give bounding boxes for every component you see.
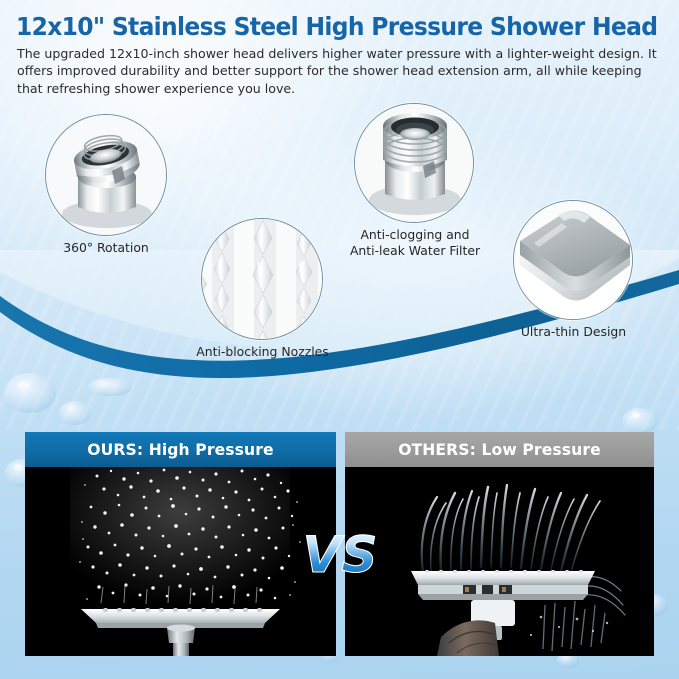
- silicone-nozzle-jets-icon: [201, 218, 323, 340]
- threaded-water-filter-icon: [354, 103, 474, 223]
- feature-nozzles: Anti-blocking Nozzles: [201, 218, 323, 340]
- ultra-thin-edge-icon: [513, 200, 633, 320]
- page-description: The upgraded 12x10-inch shower head deli…: [17, 45, 657, 97]
- feature-ultrathin: Ultra-thin Design: [513, 200, 633, 320]
- panel-ours-header: OURS: High Pressure: [25, 432, 336, 467]
- feature-caption: Anti-blocking Nozzles: [185, 344, 340, 360]
- panel-ours-image: [25, 467, 336, 656]
- feature-rotation: 360° Rotation: [45, 114, 167, 236]
- panel-others-image: [345, 467, 654, 656]
- feature-caption: Anti-clogging and Anti-leak Water Filter: [324, 227, 506, 258]
- feature-caption: Ultra-thin Design: [501, 324, 646, 340]
- feature-caption: 360° Rotation: [31, 240, 181, 256]
- infographic-page: 12x10" Stainless Steel High Pressure Sho…: [0, 0, 679, 679]
- swivel-ball-joint-icon: [45, 114, 167, 236]
- panel-others: OTHERS: Low Pressure: [345, 432, 654, 656]
- panel-ours: OURS: High Pressure: [25, 432, 336, 656]
- feature-filter: Anti-clogging and Anti-leak Water Filter: [354, 103, 474, 223]
- page-title: 12x10" Stainless Steel High Pressure Sho…: [16, 12, 637, 41]
- panel-others-header: OTHERS: Low Pressure: [345, 432, 654, 467]
